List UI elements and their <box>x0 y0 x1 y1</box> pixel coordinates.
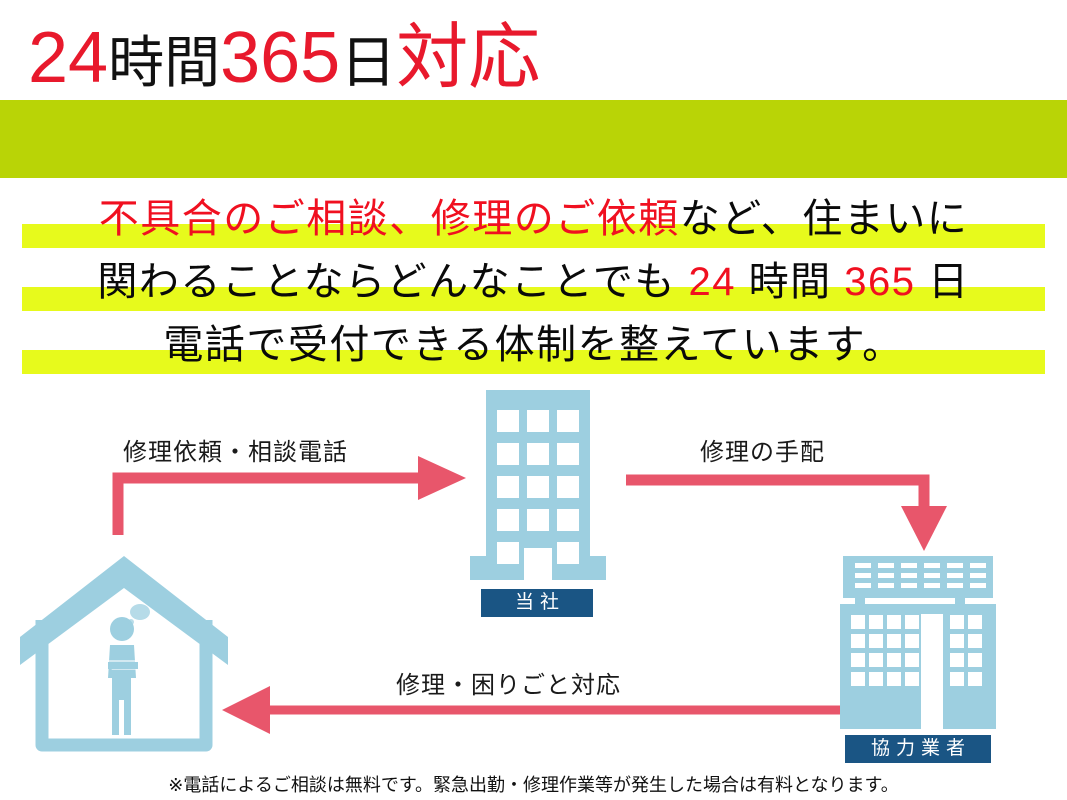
partner-building-icon <box>840 556 996 729</box>
service-flow-diagram <box>0 0 1067 800</box>
lead-line-2-text: 関わることならどんなことでも 24 時間 365 日 <box>97 260 969 304</box>
building-window <box>527 443 549 465</box>
title-word-support: 対応 <box>396 18 540 98</box>
building-window <box>557 443 579 465</box>
arrow-repair-dispatch <box>626 480 947 551</box>
lead-line-1: 不具合のご相談、修理のご依頼など、住まいに <box>0 188 1067 251</box>
partner-window <box>869 672 883 686</box>
partner-window <box>887 615 901 629</box>
lead-line-2-red-365: 365 <box>844 260 915 304</box>
partner-sign-bar <box>901 583 917 588</box>
lead-line-2-black-c: 日 <box>916 260 970 304</box>
partner-window <box>869 634 883 648</box>
lead-line-2-black-a: 関わることならどんなことでも <box>97 260 688 304</box>
building-window <box>497 443 519 465</box>
partner-sign-bar <box>901 563 917 568</box>
thought-bubble-small <box>128 619 134 625</box>
partner-sign-leg <box>855 592 865 606</box>
building-window <box>527 410 549 432</box>
partner-sign-bar <box>924 583 940 588</box>
partner-window <box>905 615 919 629</box>
building-window <box>557 410 579 432</box>
partner-window <box>968 672 982 686</box>
lead-line-2-red-24: 24 <box>689 260 737 304</box>
building-window <box>527 476 549 498</box>
partner-sign-bar <box>855 583 871 588</box>
title-number-365: 365 <box>220 18 340 98</box>
partner-window <box>887 634 901 648</box>
building-window <box>557 509 579 531</box>
partner-window <box>968 634 982 648</box>
building-window <box>497 476 519 498</box>
partner-window <box>905 672 919 686</box>
partner-window <box>869 653 883 667</box>
building-window <box>497 410 519 432</box>
arrow-repair-request <box>118 456 466 535</box>
partner-sign-bar <box>970 583 986 588</box>
person-body <box>108 645 136 735</box>
building-window <box>497 509 519 531</box>
lead-line-1-text: 不具合のご相談、修理のご依頼など、住まいに <box>99 197 969 241</box>
lead-line-2-black-b: 時間 <box>736 260 844 304</box>
building-window <box>497 542 519 564</box>
partner-window <box>887 672 901 686</box>
partner-sign-bar <box>855 573 871 578</box>
partner-sign-bar <box>947 573 963 578</box>
slide-canvas: 24時間365日対応 不具合のご相談、修理のご依頼など、住まいに 関わることなら… <box>0 0 1067 800</box>
lead-line-1-red: 不具合のご相談、修理のご依頼 <box>99 197 680 241</box>
partner-window <box>869 615 883 629</box>
partner-sign-bar <box>970 563 986 568</box>
title-number-24: 24 <box>28 18 108 98</box>
partner-window <box>851 653 865 667</box>
lead-paragraph: 不具合のご相談、修理のご依頼など、住まいに 関わることならどんなことでも 24 … <box>0 188 1067 377</box>
lead-line-3-text: 電話で受付できる体制を整えています。 <box>163 323 903 367</box>
partner-window <box>950 653 964 667</box>
office-building-icon <box>470 390 606 580</box>
partner-sign-bar <box>878 563 894 568</box>
page-title: 24時間365日対応 <box>28 18 540 103</box>
house-with-person-icon <box>20 556 228 745</box>
partner-sign-bar <box>947 583 963 588</box>
partner-center-column <box>921 614 943 729</box>
partner-sign-bar <box>855 563 871 568</box>
partner-sign-bar <box>901 573 917 578</box>
lead-line-3: 電話で受付できる体制を整えています。 <box>0 314 1067 377</box>
partner-sign-bar <box>970 573 986 578</box>
thought-bubble-large <box>130 604 150 620</box>
arrow-response-head <box>222 686 270 734</box>
partner-window <box>968 615 982 629</box>
person-forearm <box>108 662 138 669</box>
building-window <box>527 509 549 531</box>
partner-sign-bar <box>878 573 894 578</box>
partner-sign-leg <box>955 592 965 606</box>
partner-window <box>905 634 919 648</box>
partner-window <box>950 672 964 686</box>
partner-sign-bar <box>947 563 963 568</box>
arrow-dispatch-head <box>901 506 947 551</box>
partner-window <box>905 653 919 667</box>
partner-window <box>968 653 982 667</box>
lead-line-1-black: など、住まいに <box>680 197 969 241</box>
partner-window <box>950 615 964 629</box>
building-door <box>524 548 552 580</box>
building-window <box>557 476 579 498</box>
arrow-repair-response <box>222 686 846 734</box>
partner-sign-bar <box>924 573 940 578</box>
arrow-dispatch-path <box>626 480 924 512</box>
arrow-request-head <box>418 456 466 500</box>
partner-window <box>851 634 865 648</box>
partner-sign-gap <box>843 598 993 604</box>
building-window <box>557 542 579 564</box>
partner-window <box>887 653 901 667</box>
arrow-request-path <box>118 478 424 535</box>
partner-window <box>851 615 865 629</box>
partner-sign-bar <box>878 583 894 588</box>
partner-window <box>950 634 964 648</box>
partner-sign-bar <box>924 563 940 568</box>
partner-window <box>851 672 865 686</box>
title-unit-days: 日 <box>340 31 396 94</box>
lead-line-2: 関わることならどんなことでも 24 時間 365 日 <box>0 251 1067 314</box>
title-unit-hours: 時間 <box>108 31 220 94</box>
